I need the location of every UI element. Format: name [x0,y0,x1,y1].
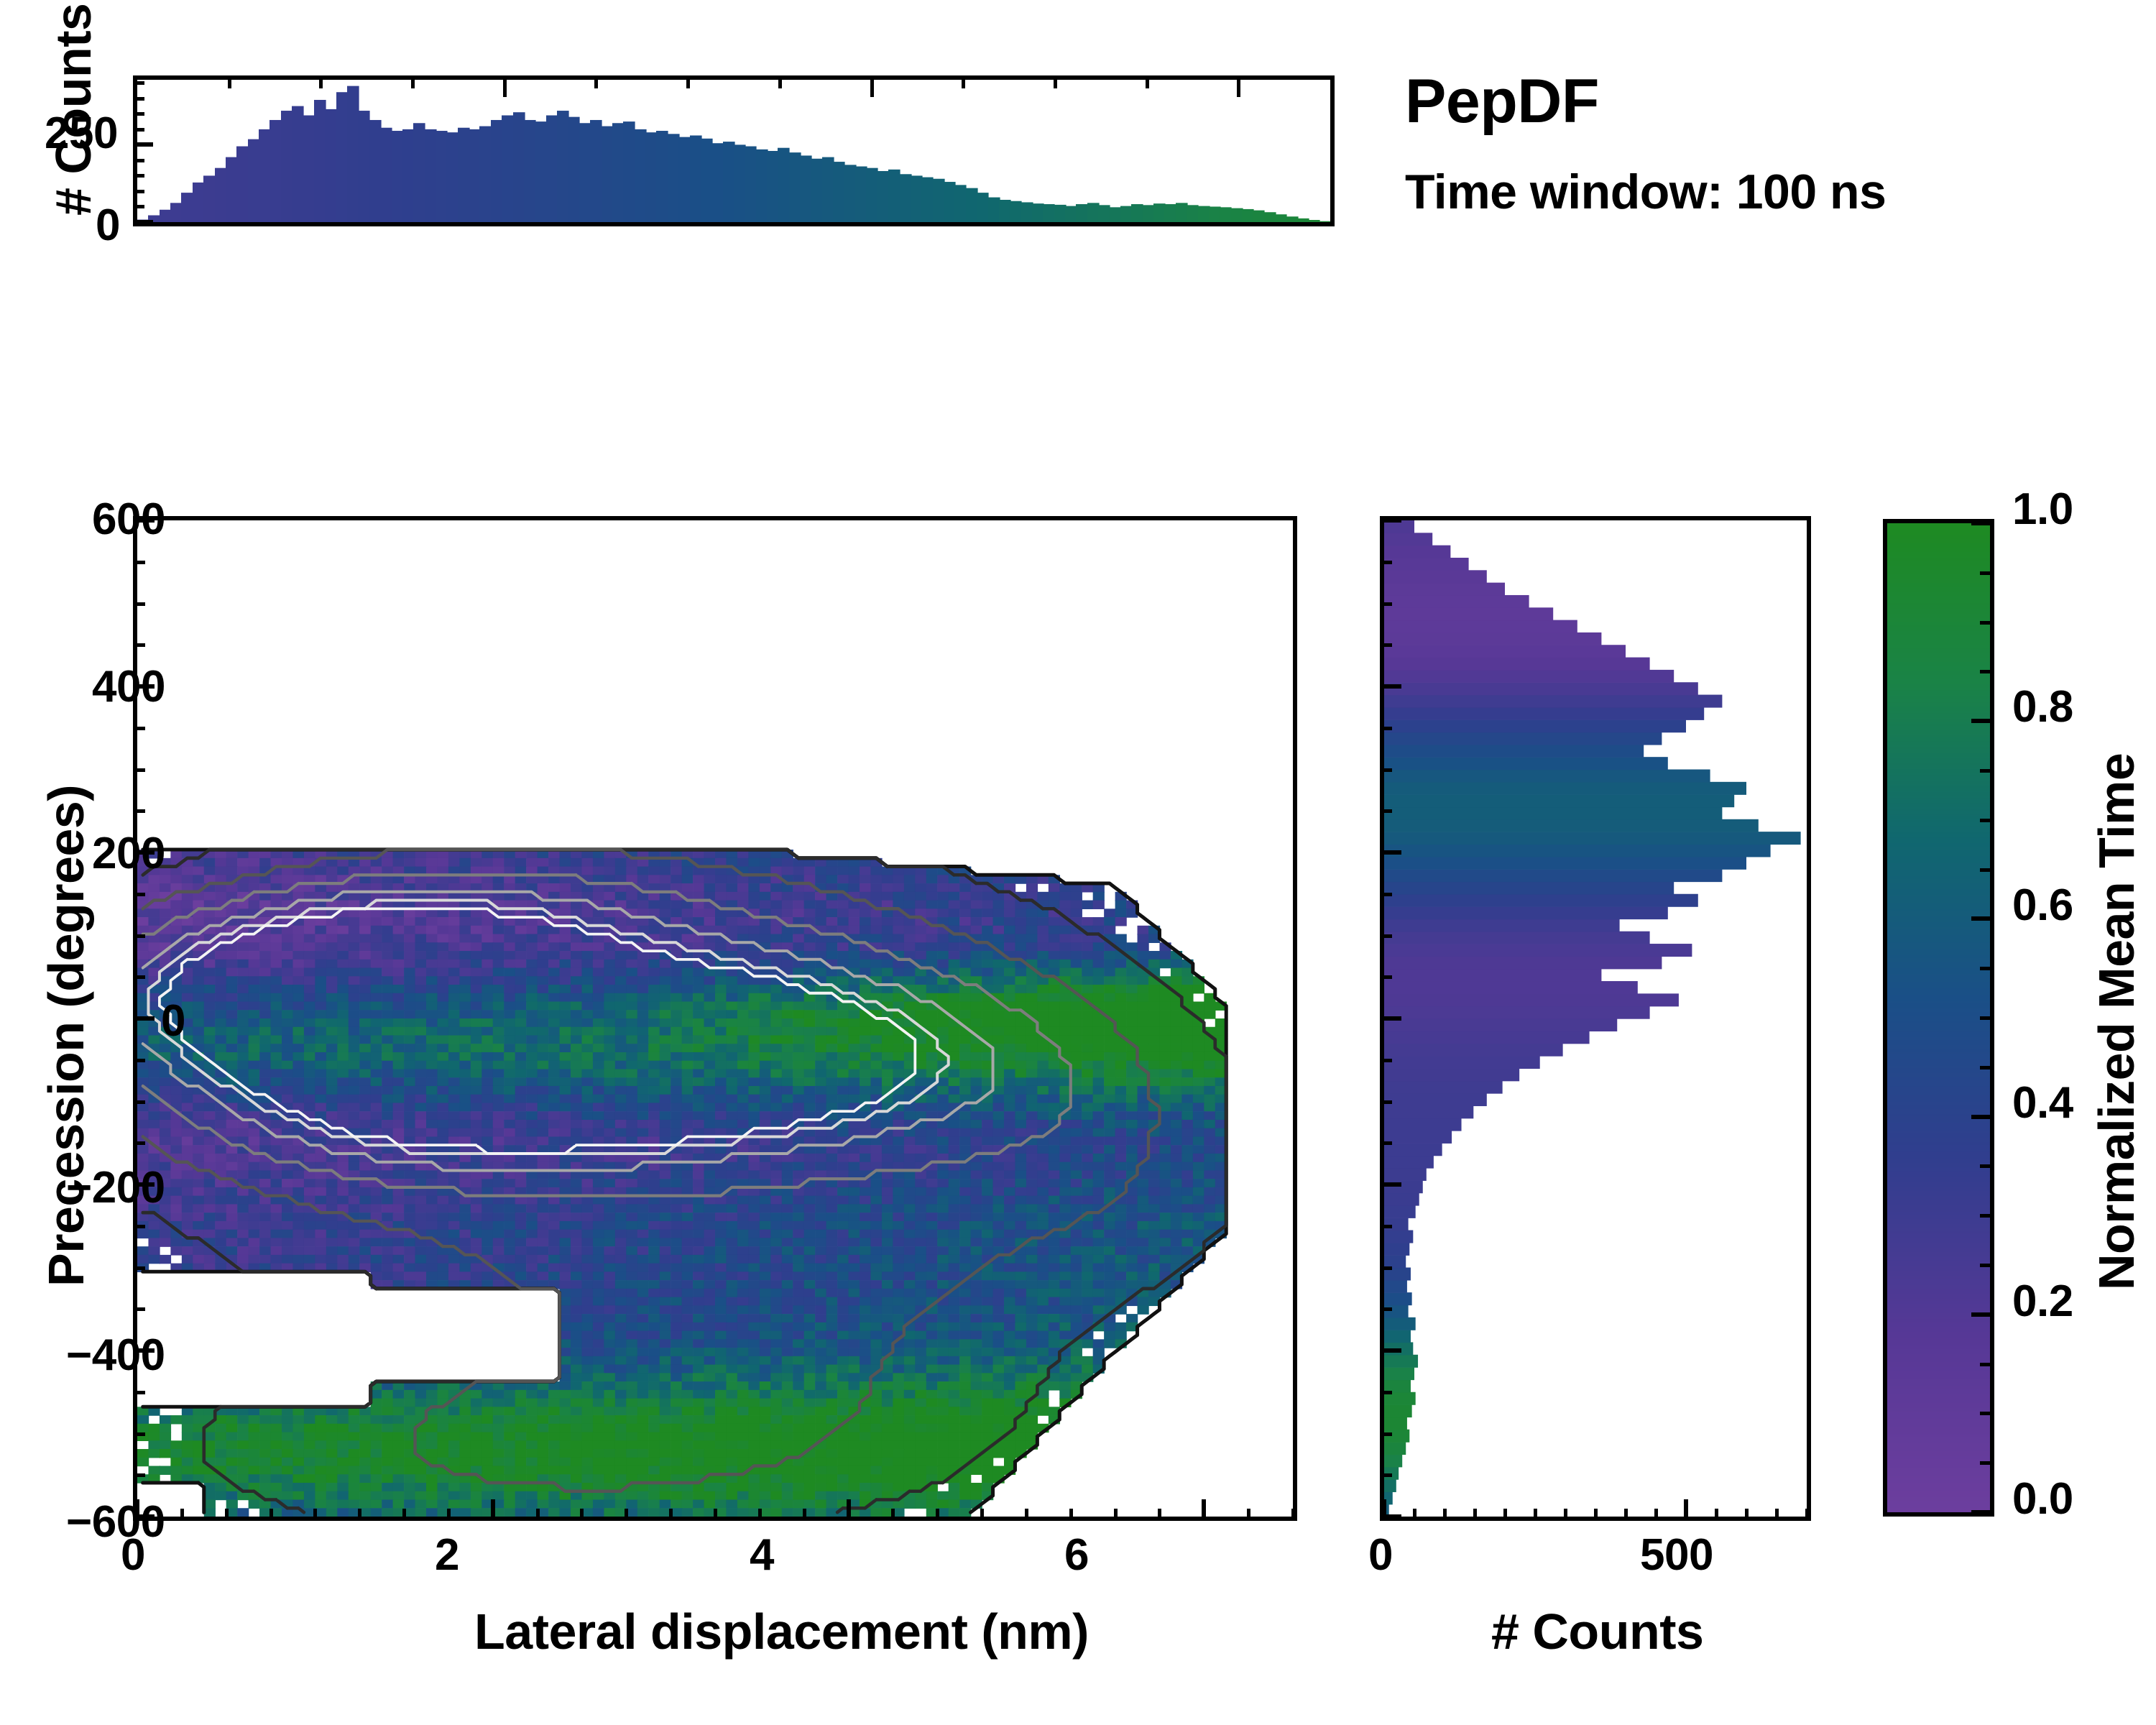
main-xtick-6: 6 [1064,1529,1089,1581]
tick-mark [1158,1509,1161,1521]
tick-mark [870,75,874,97]
tick-mark [1380,1141,1392,1145]
tick-mark [1980,571,1994,575]
right-histogram-canvas [1384,520,1807,1517]
main-xtick-2: 2 [435,1529,459,1581]
tick-mark [1025,1509,1028,1521]
top-histogram-panel [133,75,1335,226]
tick-mark [358,1509,361,1521]
tick-mark [133,893,145,896]
main-ytick-200: 200 [92,828,165,879]
tick-mark [1380,518,1401,523]
tick-mark [1380,1266,1392,1270]
tick-mark [1380,1348,1401,1353]
tick-mark [1380,934,1392,938]
main-xlabel: Lateral displacement (nm) [474,1603,1089,1660]
tick-mark [778,75,782,88]
tick-mark [1980,819,1994,822]
tick-mark [133,934,145,938]
tick-mark [1980,1461,1994,1465]
tick-mark [1380,561,1392,564]
tick-mark [133,1016,155,1021]
tick-mark [1980,769,1994,773]
tick-mark [580,1509,584,1521]
tick-mark [1237,75,1240,97]
cbar-tick-10: 1.0 [2012,484,2073,535]
tick-mark [1980,621,1994,625]
tick-mark [1980,1016,1994,1020]
tick-mark [1980,670,1994,673]
tick-mark [1971,719,1994,723]
top-ylabel: # Counts [45,4,102,216]
tick-mark [1380,850,1401,855]
tick-mark [411,75,415,88]
tick-mark [133,205,144,208]
tick-mark [1980,1164,1994,1168]
tick-mark [1380,1473,1392,1477]
tick-mark [1971,521,1994,525]
tick-mark [133,1432,145,1436]
main-heatmap-canvas [137,520,1293,1517]
main-ytick-0: 0 [161,995,185,1046]
tick-mark [1380,602,1392,606]
tick-mark [1380,1307,1392,1311]
tick-mark [269,1509,273,1521]
tick-mark [133,561,145,564]
tick-mark [1380,975,1392,979]
cbar-tick-04: 0.4 [2012,1077,2073,1128]
tick-mark [1980,1066,1994,1069]
tick-mark [1715,1509,1718,1521]
tick-mark [1380,893,1392,896]
tick-mark [1534,1509,1537,1521]
tick-mark [594,75,598,88]
tick-mark [962,75,965,88]
tick-mark [503,75,507,97]
main-ytick-600: 600 [92,494,165,545]
tick-mark [1443,1509,1447,1521]
tick-mark [1380,684,1401,689]
tick-mark [1624,1509,1628,1521]
tick-mark [133,1307,145,1311]
tick-mark [1980,967,1994,970]
main-ytick-m600: −600 [66,1496,165,1547]
tick-mark [133,142,153,147]
top-histogram-canvas [137,80,1330,222]
tick-mark [313,1509,317,1521]
tick-mark [936,1509,939,1521]
tick-mark [686,75,690,88]
tick-mark [1980,868,1994,872]
tick-mark [1805,1509,1809,1521]
tick-mark [133,727,145,730]
tick-mark [1202,1499,1206,1521]
tick-mark [1380,727,1392,730]
tick-mark [133,602,145,606]
tick-mark [133,112,144,116]
tick-mark [133,128,144,132]
tick-mark [669,1509,673,1521]
tick-mark [1380,1514,1401,1519]
tick-mark [1380,1016,1401,1021]
tick-mark [536,1509,540,1521]
tick-mark [1775,1509,1779,1521]
tick-mark [1380,643,1392,647]
tick-mark [1971,1312,1994,1317]
cbar-tick-00: 0.0 [2012,1473,2073,1524]
tick-mark [133,81,144,85]
tick-mark [1380,1225,1392,1228]
tick-mark [133,643,145,647]
right-xtick-500: 500 [1640,1529,1713,1581]
tick-mark [1971,1115,1994,1119]
tick-mark [1054,75,1057,88]
main-ytick-m400: −400 [66,1330,165,1381]
tick-mark [133,1059,145,1062]
tick-mark [1980,1264,1994,1267]
tick-mark [133,174,144,178]
main-xtick-0: 0 [121,1529,145,1581]
figure-root: 250 0 # Counts PepDF Time window: 100 ns… [0,0,2156,1725]
page-subtitle: Time window: 100 ns [1405,164,1886,220]
tick-mark [1980,1412,1994,1415]
tick-mark [1971,1510,1994,1514]
tick-mark [803,1509,806,1521]
tick-mark [891,1509,895,1521]
tick-mark [1291,1509,1295,1521]
tick-mark [1380,809,1392,813]
tick-mark [133,1473,145,1477]
main-ytick-400: 400 [92,661,165,712]
tick-mark [1684,1499,1688,1521]
right-xtick-0: 0 [1368,1529,1393,1581]
tick-mark [225,1509,229,1521]
tick-mark [133,220,153,224]
tick-mark [133,97,144,101]
tick-mark [1980,1214,1994,1218]
tick-mark [133,159,144,162]
tick-mark [1380,1100,1392,1104]
tick-mark [980,1509,984,1521]
tick-mark [1971,916,1994,921]
tick-mark [133,1141,145,1145]
tick-mark [491,1499,495,1521]
tick-mark [1380,1182,1401,1187]
tick-mark [714,1509,717,1521]
cbar-tick-02: 0.2 [2012,1276,2073,1327]
tick-mark [1503,1509,1507,1521]
tick-mark [133,809,145,813]
tick-mark [1380,768,1392,772]
page-title: PepDF [1405,66,1599,137]
tick-mark [758,1509,762,1521]
tick-mark [1473,1509,1477,1521]
cbar-tick-06: 0.6 [2012,880,2073,931]
tick-mark [133,1225,145,1228]
colorbar-canvas [1887,523,1990,1512]
tick-mark [1247,1509,1250,1521]
colorbar-label: Normalized Mean Time [2088,753,2145,1290]
tick-mark [133,1266,145,1270]
main-xtick-4: 4 [750,1529,774,1581]
right-xlabel: # Counts [1491,1603,1703,1660]
tick-mark [319,75,323,88]
tick-mark [1380,1432,1392,1436]
tick-mark [625,1509,628,1521]
tick-mark [133,190,144,193]
colorbar [1883,519,1994,1517]
tick-mark [1380,1391,1392,1394]
right-histogram-panel [1380,516,1811,1521]
tick-mark [1069,1509,1073,1521]
tick-mark [447,1509,451,1521]
tick-mark [1745,1509,1749,1521]
tick-mark [1380,1059,1392,1062]
tick-mark [1413,1509,1416,1521]
tick-mark [1654,1509,1658,1521]
tick-mark [402,1509,406,1521]
tick-mark [228,75,231,88]
tick-mark [1594,1509,1598,1521]
tick-mark [133,1100,145,1104]
main-ylabel: Precession (degrees) [37,785,95,1287]
tick-mark [133,768,145,772]
cbar-tick-08: 0.8 [2012,681,2073,732]
tick-mark [133,975,145,979]
tick-mark [133,1391,145,1394]
tick-mark [180,1509,184,1521]
main-joint-panel [133,516,1297,1521]
tick-mark [847,1499,851,1521]
tick-mark [1114,1509,1118,1521]
tick-mark [1980,1363,1994,1366]
tick-mark [1564,1509,1567,1521]
tick-mark [1146,75,1149,88]
